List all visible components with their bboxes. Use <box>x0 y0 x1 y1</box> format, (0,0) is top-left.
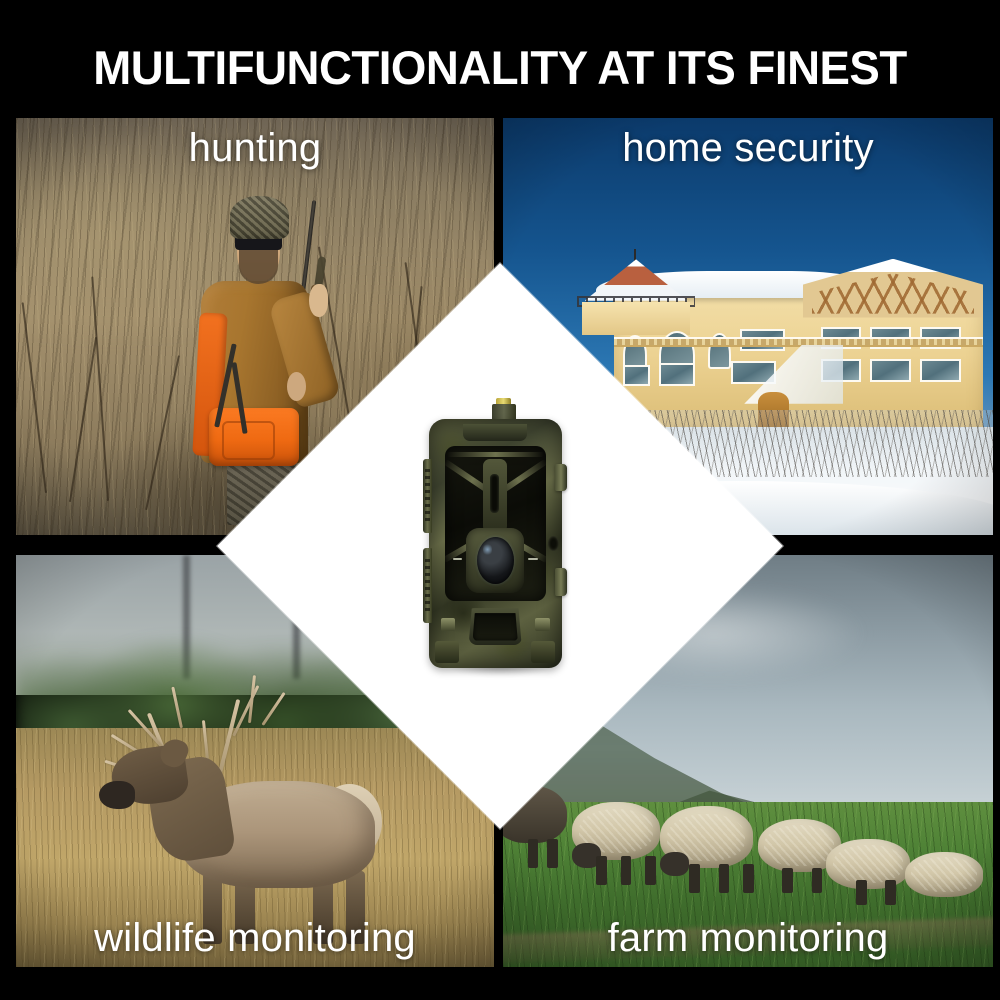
sheep-leg <box>812 868 823 893</box>
sheep-leg <box>528 839 539 868</box>
balcony-railing <box>614 337 984 347</box>
lens-tick-right <box>528 558 537 560</box>
lens-tick-left <box>453 558 462 560</box>
camera-lens <box>477 537 514 584</box>
hunter-orange-fanny-pack <box>209 408 298 467</box>
sheep-leg <box>621 856 632 885</box>
panel-label-wildlife: wildlife monitoring <box>16 916 494 961</box>
sheep-leg <box>782 868 793 893</box>
hunter-lower-hand <box>287 372 306 401</box>
sheep <box>826 839 909 888</box>
sheep-leg <box>596 856 607 885</box>
window <box>659 363 695 387</box>
camera-housing <box>429 419 562 668</box>
panel-label-hunting: hunting <box>16 126 494 171</box>
window <box>870 359 911 383</box>
camo-cap <box>230 196 289 238</box>
strap-slot <box>548 536 559 551</box>
sheep-leg <box>856 880 867 905</box>
sheep-leg <box>719 864 730 893</box>
sheep <box>905 852 983 897</box>
screw-left <box>441 618 456 630</box>
ir-hood <box>463 424 527 441</box>
hinge-upper <box>423 459 432 534</box>
elk-muzzle <box>99 781 135 809</box>
window <box>920 359 961 383</box>
sheep-leg <box>743 864 754 893</box>
antler-tine <box>202 720 209 759</box>
turret-red-tile-roof <box>585 259 688 300</box>
antler-tine <box>127 709 163 748</box>
turret-body <box>582 302 690 335</box>
panel-label-home-security: home security <box>503 126 993 171</box>
page-title: MULTIFUNCTIONALITY AT ITS FINEST <box>15 34 985 100</box>
sheep-leg <box>645 856 656 885</box>
base-foot-left <box>435 641 459 663</box>
antler-tine <box>248 675 256 723</box>
sheep-leg <box>885 880 896 905</box>
product-collage: MULTIFUNCTIONALITY AT ITS FINEST <box>0 0 1000 1000</box>
latch-upper <box>555 464 567 491</box>
trail-camera-product <box>419 404 581 669</box>
latch-lower <box>555 568 567 595</box>
pir-sensor-window <box>473 613 518 640</box>
panel-label-farm: farm monitoring <box>503 916 993 961</box>
antler-tine <box>262 692 286 726</box>
base-foot-right <box>531 641 555 663</box>
bull-elk <box>92 658 417 938</box>
window <box>623 365 650 387</box>
sheep-head <box>660 852 689 877</box>
sheep-leg <box>689 864 700 893</box>
hinge-lower <box>423 548 432 623</box>
face-rib-top <box>447 452 544 457</box>
antler-tine <box>172 687 184 729</box>
hunter-beard <box>239 248 279 284</box>
indicator-slot <box>490 474 499 514</box>
hunter-upper-hand <box>309 284 328 317</box>
screw-right <box>535 618 550 630</box>
sheep-leg <box>547 839 558 868</box>
turret <box>577 249 694 335</box>
